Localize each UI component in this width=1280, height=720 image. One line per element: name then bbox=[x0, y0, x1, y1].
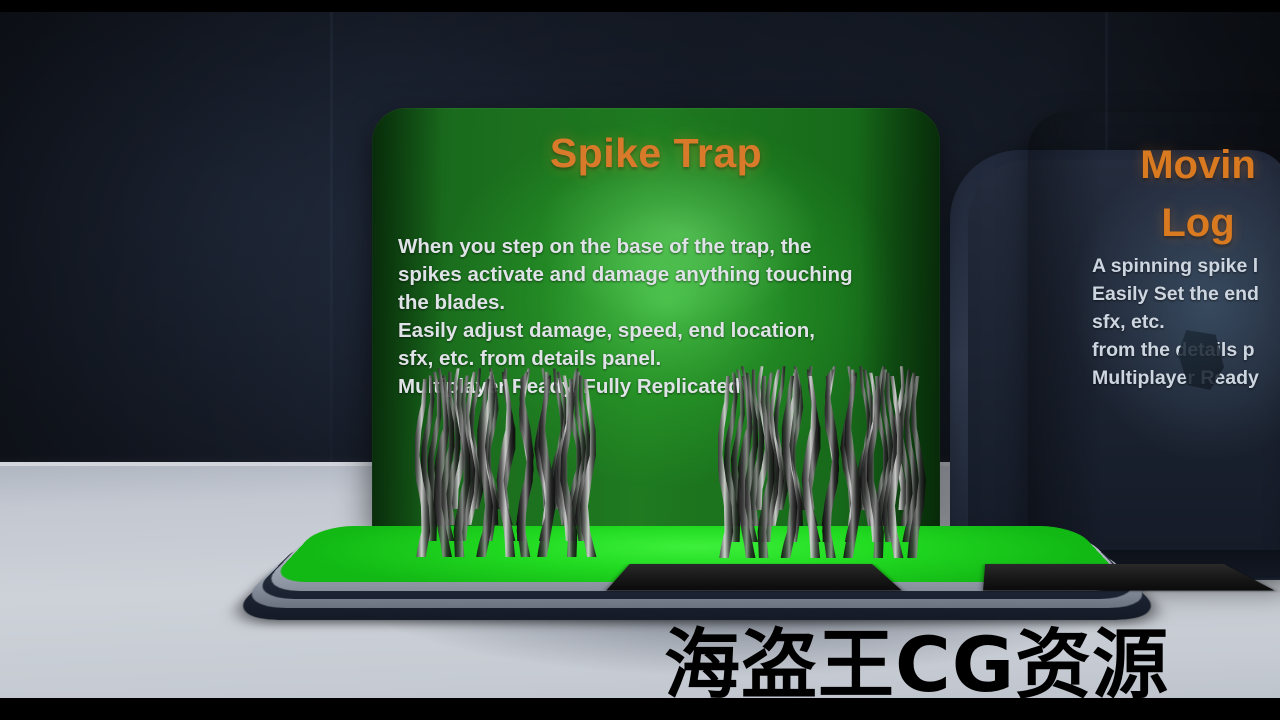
spike-plate-right bbox=[983, 564, 1274, 590]
green-panel-line-2: spikes activate and damage anything touc… bbox=[398, 261, 928, 289]
blue-panel-title-line1: Movin bbox=[1028, 136, 1280, 194]
scene-3d-viewport: Movin Log A spinning spike l Easily Set … bbox=[0, 0, 1280, 720]
spike-cluster-left bbox=[415, 352, 650, 587]
green-panel-line-4: Easily adjust damage, speed, end locatio… bbox=[398, 317, 928, 345]
watermark-text: 海盗王CG资源 bbox=[664, 627, 1169, 703]
blue-panel-line-1: A spinning spike l bbox=[1092, 252, 1280, 280]
base-green-platform bbox=[268, 526, 1126, 582]
spike-cluster-right bbox=[718, 348, 979, 588]
green-panel-line-3: the blades. bbox=[398, 289, 928, 317]
letterbox-bar-top bbox=[0, 0, 1280, 12]
spike-trap-base bbox=[190, 470, 1190, 630]
blue-panel-line-2: Easily Set the end bbox=[1092, 280, 1280, 308]
green-panel-title: Spike Trap bbox=[372, 130, 940, 177]
blue-panel-title-line2: Log bbox=[1028, 194, 1280, 252]
blue-panel-title: Movin Log bbox=[1028, 136, 1280, 252]
green-panel-line-1: When you step on the base of the trap, t… bbox=[398, 233, 928, 261]
